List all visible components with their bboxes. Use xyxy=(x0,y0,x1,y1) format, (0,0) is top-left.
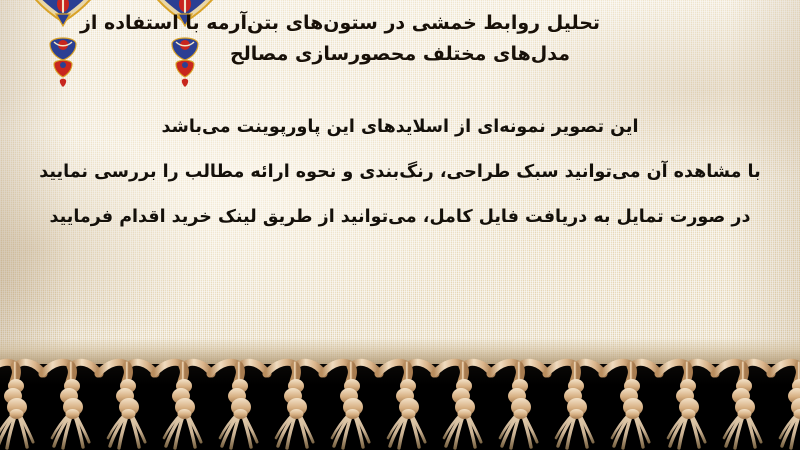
body-line-3: در صورت تمایل به دریافت فایل کامل، می‌تو… xyxy=(0,195,800,240)
body-line-2: با مشاهده آن می‌توانید سبک طراحی، رنگ‌بن… xyxy=(0,150,800,195)
tassel-row xyxy=(0,362,800,449)
slide-body: این تصویر نمونه‌ای از اسلایدهای این پاور… xyxy=(0,105,800,240)
title-line-2: مدل‌های مختلف محصورسازی مصالح xyxy=(14,39,786,70)
title-line-1: تحلیل روابط خمشی در ستون‌های بتن‌آرمه با… xyxy=(14,8,786,39)
slide-canvas: تحلیل روابط خمشی در ستون‌های بتن‌آرمه با… xyxy=(0,0,800,450)
slide-title: تحلیل روابط خمشی در ستون‌های بتن‌آرمه با… xyxy=(0,8,800,70)
body-line-1: این تصویر نمونه‌ای از اسلایدهای این پاور… xyxy=(0,105,800,150)
knotted-tassel-fringe xyxy=(0,342,800,450)
